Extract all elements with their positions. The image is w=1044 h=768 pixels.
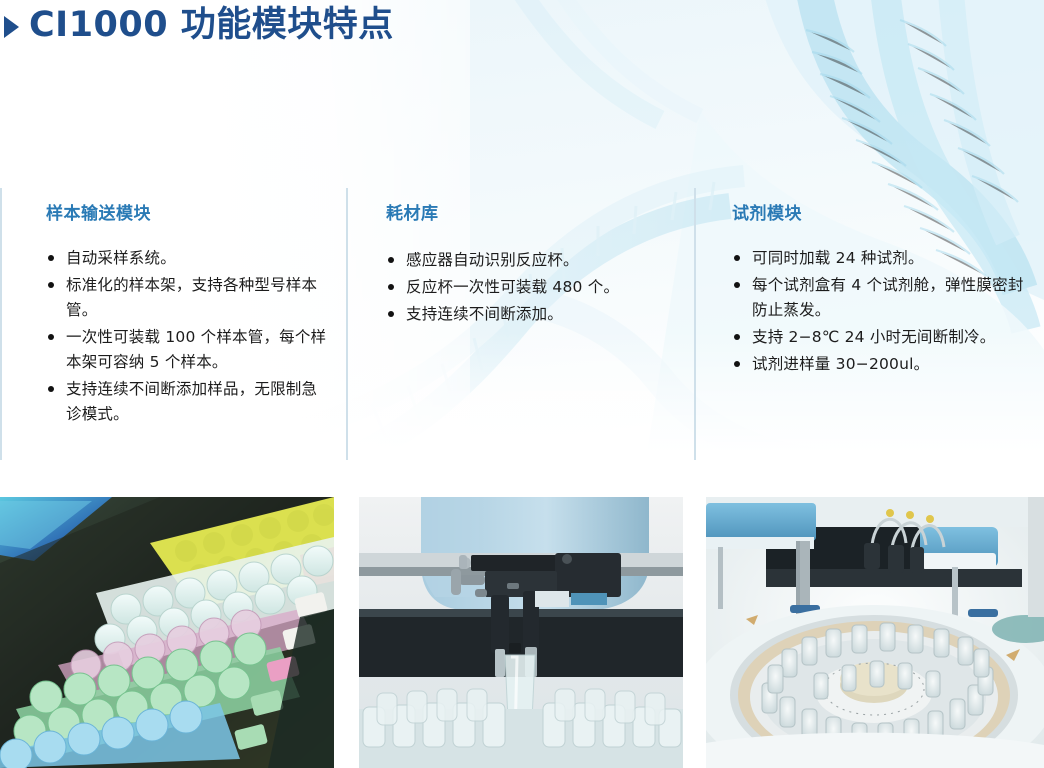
- column-heading: 耗材库: [386, 204, 680, 224]
- list-item: 支持连续不间断添加。: [386, 302, 680, 327]
- triangle-right-icon: [4, 16, 19, 38]
- list-item: 支持 2−8℃ 24 小时无间断制冷。: [732, 325, 1032, 350]
- list-item: 一次性可装载 100 个样本管，每个样本架可容纳 5 个样本。: [46, 325, 332, 375]
- sample-tube-rack-photo: [0, 497, 334, 768]
- list-item: 试剂进样量 30−200ul。: [732, 352, 1032, 377]
- page-title: CI1000 功能模块特点: [4, 6, 394, 45]
- page-title-text: CI1000 功能模块特点: [29, 6, 394, 45]
- column-heading: 样本输送模块: [46, 204, 332, 224]
- feature-list: 可同时加载 24 种试剂。 每个试剂盒有 4 个试剂舱，弹性膜密封防止蒸发。 支…: [732, 246, 1032, 377]
- reagent-carousel-photo: [706, 497, 1044, 768]
- feature-list: 感应器自动识别反应杯。 反应杯一次性可装载 480 个。 支持连续不间断添加。: [386, 248, 680, 327]
- feature-column-sample-transport: 样本输送模块 自动采样系统。 标准化的样本架，支持各种型号样本管。 一次性可装载…: [0, 188, 346, 460]
- photo-strip: [0, 497, 1044, 768]
- slide-page: CI1000 功能模块特点 样本输送模块 自动采样系统。 标准化的样本架，支持各…: [0, 0, 1044, 768]
- feature-column-reagent-module: 试剂模块 可同时加载 24 种试剂。 每个试剂盒有 4 个试剂舱，弹性膜密封防止…: [694, 188, 1044, 460]
- list-item: 感应器自动识别反应杯。: [386, 248, 680, 273]
- list-item: 可同时加载 24 种试剂。: [732, 246, 1032, 271]
- list-item: 支持连续不间断添加样品，无限制急诊模式。: [46, 377, 332, 427]
- list-item: 每个试剂盒有 4 个试剂舱，弹性膜密封防止蒸发。: [732, 273, 1032, 323]
- list-item: 自动采样系统。: [46, 246, 332, 271]
- feature-columns: 样本输送模块 自动采样系统。 标准化的样本架，支持各种型号样本管。 一次性可装载…: [0, 188, 1044, 460]
- column-heading: 试剂模块: [732, 204, 1032, 224]
- feature-list: 自动采样系统。 标准化的样本架，支持各种型号样本管。 一次性可装载 100 个样…: [46, 246, 332, 427]
- pipettor-gripper-photo: [359, 497, 683, 768]
- list-item: 反应杯一次性可装载 480 个。: [386, 275, 680, 300]
- feature-column-consumable-store: 耗材库 感应器自动识别反应杯。 反应杯一次性可装载 480 个。 支持连续不间断…: [346, 188, 694, 460]
- list-item: 标准化的样本架，支持各种型号样本管。: [46, 273, 332, 323]
